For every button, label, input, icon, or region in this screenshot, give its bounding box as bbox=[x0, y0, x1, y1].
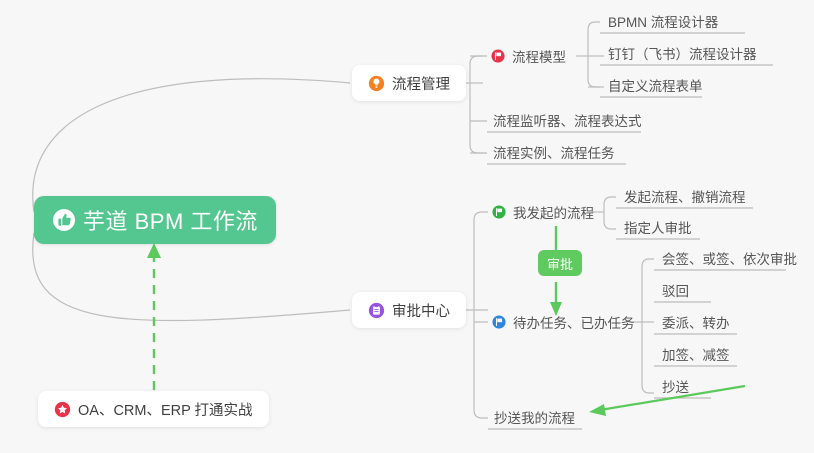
node-reject-label: 驳回 bbox=[662, 280, 689, 300]
link-todo-bracket bbox=[642, 259, 654, 393]
mindmap-canvas: 芋道 BPM 工作流 流程管理 流程模型 BPMN 流程设计器 钉钉（飞书）流程 bbox=[0, 0, 814, 453]
root-node-label: 芋道 BPM 工作流 bbox=[83, 204, 258, 236]
node-instance-task-label: 流程实例、流程任务 bbox=[493, 142, 615, 162]
node-cc-label: 抄送 bbox=[662, 376, 689, 396]
node-add-remove-sign-label: 加签、减签 bbox=[662, 344, 730, 364]
node-listener-expression[interactable]: 流程监听器、流程表达式 bbox=[489, 107, 646, 133]
node-todo-done-task[interactable]: 待办任务、已办任务 bbox=[490, 309, 639, 335]
node-process-model-label: 流程模型 bbox=[512, 46, 566, 66]
branch-process-management[interactable]: 流程管理 bbox=[352, 65, 466, 101]
node-start-cancel-process[interactable]: 发起流程、撤销流程 bbox=[620, 183, 750, 209]
node-listener-expression-label: 流程监听器、流程表达式 bbox=[493, 110, 642, 130]
approval-badge-label: 审批 bbox=[547, 254, 573, 273]
arrowhead-cc-to-process bbox=[589, 404, 606, 416]
node-cc-to-me-process[interactable]: 抄送我的流程 bbox=[490, 404, 579, 430]
node-dingtalk-feishu-designer-label: 钉钉（飞书）流程设计器 bbox=[608, 43, 757, 63]
node-assignee-approval-label: 指定人审批 bbox=[624, 217, 692, 237]
star-icon bbox=[54, 401, 71, 418]
node-instance-task[interactable]: 流程实例、流程任务 bbox=[489, 139, 619, 165]
flag-icon bbox=[491, 49, 505, 63]
branch-approval-center-label: 审批中心 bbox=[392, 300, 450, 321]
node-bpmn-designer-label: BPMN 流程设计器 bbox=[608, 11, 718, 31]
node-custom-process-form[interactable]: 自定义流程表单 bbox=[604, 72, 707, 98]
node-start-cancel-process-label: 发起流程、撤销流程 bbox=[624, 186, 746, 206]
node-todo-done-task-label: 待办任务、已办任务 bbox=[513, 312, 635, 332]
node-my-started-process[interactable]: 我发起的流程 bbox=[490, 199, 598, 225]
branch-process-management-label: 流程管理 bbox=[392, 73, 450, 94]
link-model-bracket bbox=[588, 22, 600, 87]
link-pm-bracket bbox=[470, 56, 483, 153]
node-bpmn-designer[interactable]: BPMN 流程设计器 bbox=[604, 8, 722, 34]
node-countersign-label: 会签、或签、依次审批 bbox=[662, 248, 797, 268]
node-process-model[interactable]: 流程模型 bbox=[489, 43, 570, 69]
arrowhead-integration-to-root bbox=[147, 243, 161, 258]
lightbulb-icon bbox=[368, 75, 385, 92]
node-delegate-transfer[interactable]: 委派、转办 bbox=[658, 309, 734, 335]
approval-badge: 审批 bbox=[538, 250, 582, 276]
link-root-to-process-management bbox=[33, 79, 350, 212]
flag-icon bbox=[492, 205, 506, 219]
integration-note-label: OA、CRM、ERP 打通实战 bbox=[78, 399, 253, 420]
link-mine-bracket bbox=[604, 197, 616, 229]
thumbs-up-icon bbox=[52, 208, 76, 232]
clipboard-icon bbox=[368, 302, 385, 319]
node-my-started-process-label: 我发起的流程 bbox=[513, 202, 594, 222]
node-delegate-transfer-label: 委派、转办 bbox=[662, 312, 730, 332]
link-root-to-approval-center bbox=[33, 233, 350, 321]
node-assignee-approval[interactable]: 指定人审批 bbox=[620, 214, 696, 240]
node-cc[interactable]: 抄送 bbox=[658, 373, 693, 399]
branch-approval-center[interactable]: 审批中心 bbox=[352, 292, 466, 328]
node-cc-to-me-process-label: 抄送我的流程 bbox=[494, 407, 575, 427]
node-reject[interactable]: 驳回 bbox=[658, 277, 693, 303]
flag-icon bbox=[492, 315, 506, 329]
node-add-remove-sign[interactable]: 加签、减签 bbox=[658, 341, 734, 367]
node-custom-process-form-label: 自定义流程表单 bbox=[608, 75, 703, 95]
root-node[interactable]: 芋道 BPM 工作流 bbox=[34, 196, 276, 244]
integration-note[interactable]: OA、CRM、ERP 打通实战 bbox=[38, 391, 269, 427]
node-dingtalk-feishu-designer[interactable]: 钉钉（飞书）流程设计器 bbox=[604, 40, 761, 66]
link-ac-bracket bbox=[474, 212, 488, 418]
node-countersign[interactable]: 会签、或签、依次审批 bbox=[658, 245, 801, 271]
